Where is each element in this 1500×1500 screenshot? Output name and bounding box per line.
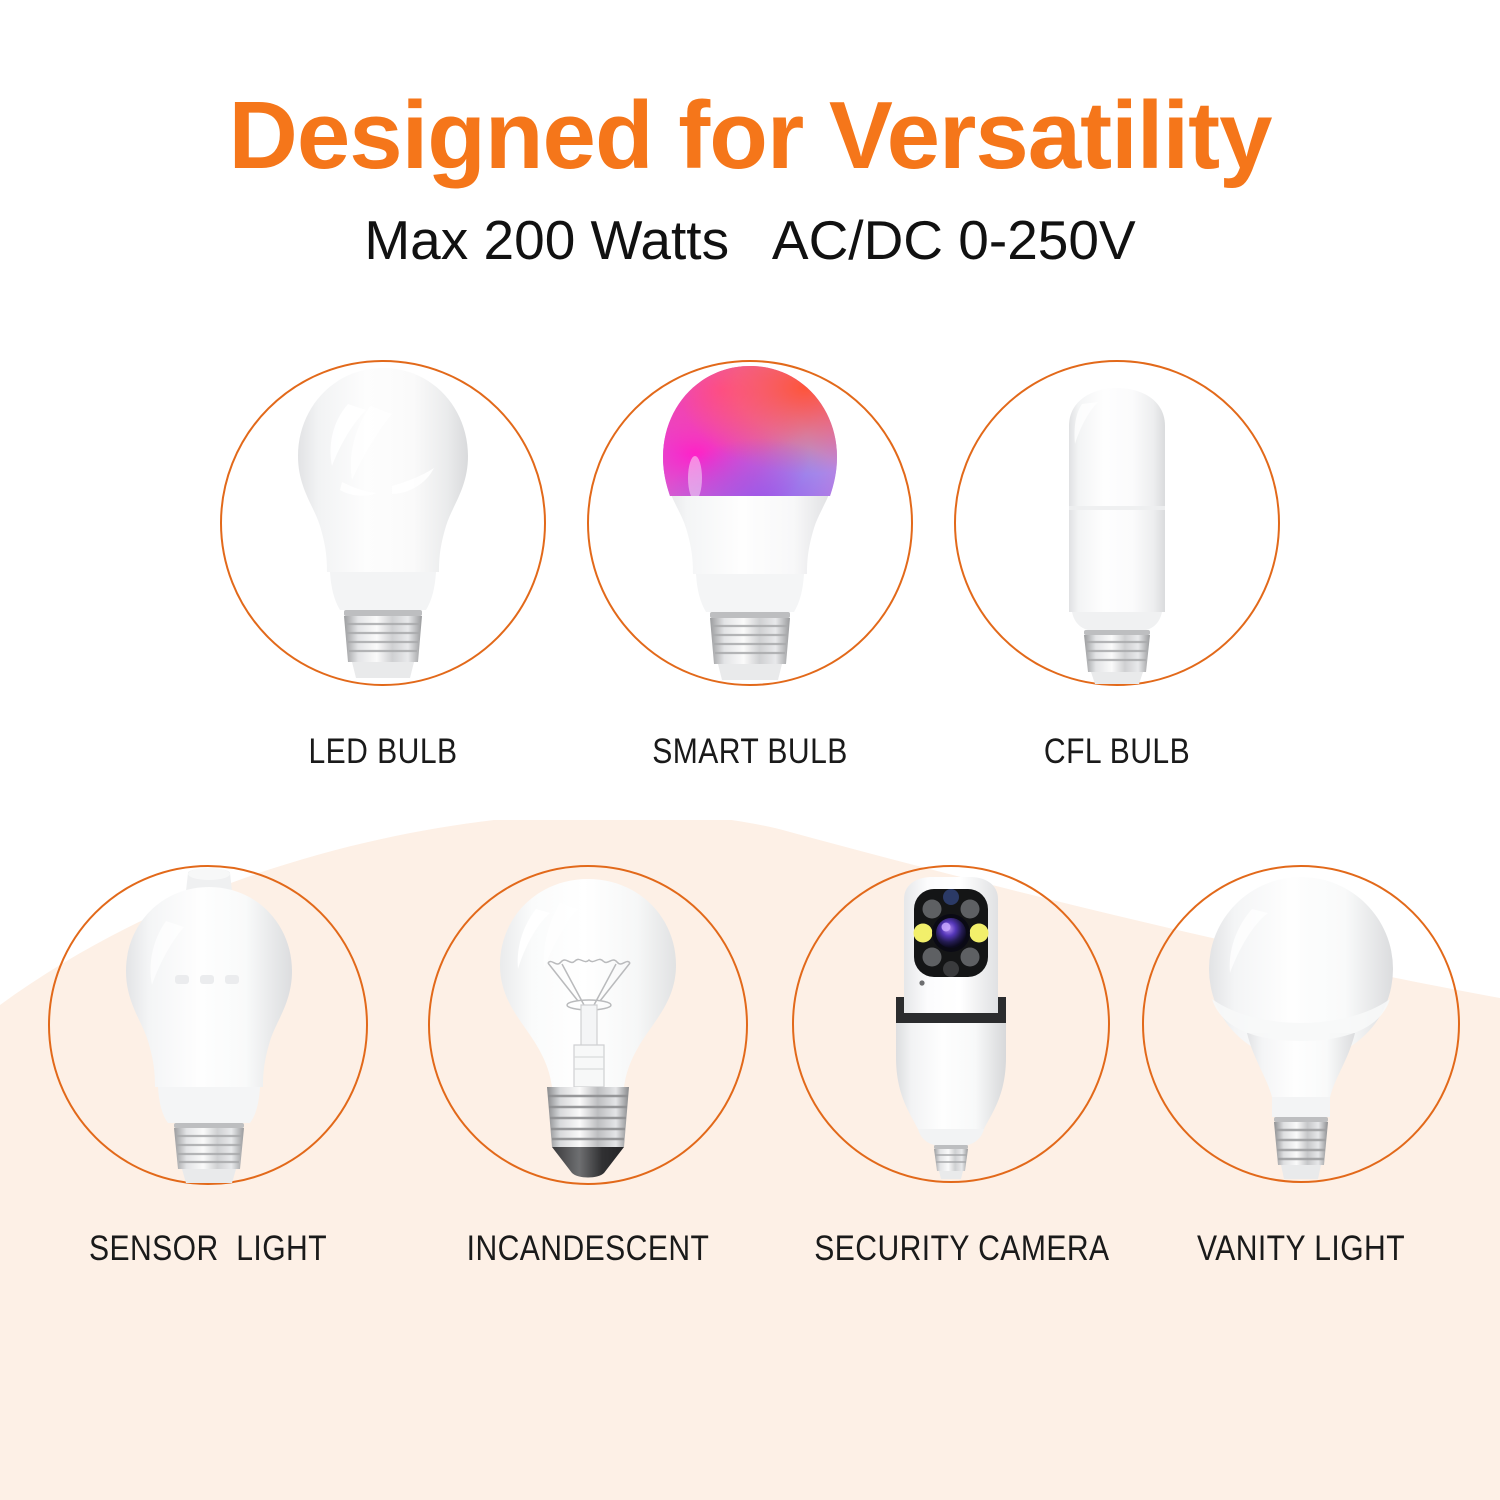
sensor-light-icon: [48, 865, 368, 1285]
item-smart-bulb[interactable]: SMART BULB: [587, 360, 913, 780]
item-label: INCANDESCENT: [450, 1229, 725, 1269]
item-security-camera[interactable]: SECURITY CAMERA: [792, 865, 1110, 1285]
incandescent-bulb-icon: [428, 865, 748, 1285]
header: Designed for Versatility Max 200 Watts A…: [0, 0, 1500, 272]
item-label: LED BULB: [243, 732, 523, 772]
item-label: SMART BULB: [610, 732, 890, 772]
item-sensor-light[interactable]: SENSOR LIGHT: [48, 865, 368, 1285]
page-title: Designed for Versatility: [0, 0, 1500, 184]
item-label: SENSOR LIGHT: [70, 1229, 345, 1269]
item-cfl-bulb[interactable]: CFL BULB: [954, 360, 1280, 780]
security-camera-bulb-icon: [792, 865, 1110, 1285]
row-one: LED BULB: [0, 360, 1500, 780]
item-led-bulb[interactable]: LED BULB: [220, 360, 546, 780]
smart-bulb-icon: [587, 360, 913, 780]
led-bulb-icon: [220, 360, 546, 780]
infographic-stage: Designed for Versatility Max 200 Watts A…: [0, 0, 1500, 1500]
item-label: SECURITY CAMERA: [814, 1229, 1087, 1269]
page-subtitle: Max 200 Watts AC/DC 0-250V: [0, 184, 1500, 272]
item-label: VANITY LIGHT: [1164, 1229, 1437, 1269]
item-label: CFL BULB: [977, 732, 1257, 772]
vanity-light-icon: [1142, 865, 1460, 1285]
row-two: SENSOR LIGHT: [0, 865, 1500, 1285]
cfl-bulb-icon: [954, 360, 1280, 780]
item-vanity-light[interactable]: VANITY LIGHT: [1142, 865, 1460, 1285]
item-incandescent[interactable]: INCANDESCENT: [428, 865, 748, 1285]
